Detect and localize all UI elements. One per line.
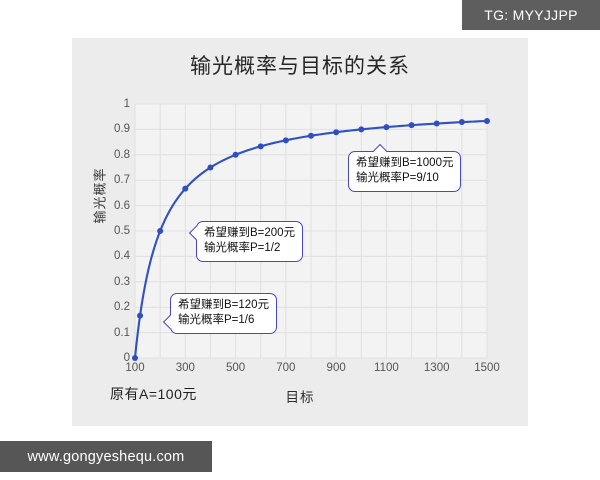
annotation-callout-b1000: 希望赚到B=1000元 输光概率P=9/10: [348, 151, 461, 192]
data-point-marker: [182, 186, 188, 192]
data-point-marker: [258, 143, 264, 149]
x-axis-tick-label: 700: [261, 362, 311, 374]
chart-card: 输光概率与目标的关系 输光概率 00.10.20.30.40.50.60.70.…: [72, 38, 528, 426]
x-axis-tick-label: 900: [311, 362, 361, 374]
data-point-marker: [132, 355, 138, 361]
y-axis-tick-label: 0.8: [96, 149, 130, 161]
starting-amount-note: 原有A=100元: [110, 384, 197, 404]
callout-b200-line1: 希望赚到B=200元: [204, 226, 295, 241]
x-axis-tick-label: 500: [211, 362, 261, 374]
y-axis-tick-label: 1: [96, 98, 130, 110]
y-axis-tick-label: 0.5: [96, 225, 130, 237]
x-axis-tick-label: 300: [160, 362, 210, 374]
data-point-marker: [233, 152, 239, 158]
tg-watermark-banner: TG: MYYJJPP: [462, 0, 600, 30]
data-point-marker: [383, 124, 389, 130]
y-axis-tick-labels: 00.10.20.30.40.50.60.70.80.91: [92, 104, 130, 358]
y-axis-tick-label: 0.3: [96, 276, 130, 288]
data-point-marker: [137, 313, 143, 319]
callout-b120-line2: 输光概率P=1/6: [178, 313, 269, 328]
chart-title: 输光概率与目标的关系: [72, 50, 528, 80]
callout-b1000-line2: 输光概率P=9/10: [356, 171, 453, 186]
x-axis-tick-label: 1100: [361, 362, 411, 374]
annotation-callout-b200: 希望赚到B=200元 输光概率P=1/2: [196, 221, 303, 262]
data-point-marker: [459, 119, 465, 125]
callout-b1000-line1: 希望赚到B=1000元: [356, 156, 453, 171]
x-axis-tick-label: 1300: [412, 362, 462, 374]
y-axis-tick-label: 0.6: [96, 200, 130, 212]
y-axis-tick-label: 0.2: [96, 301, 130, 313]
x-axis-tick-label: 100: [110, 362, 160, 374]
data-point-marker: [308, 133, 314, 139]
data-point-marker: [358, 126, 364, 132]
callout-b200-line2: 输光概率P=1/2: [204, 241, 295, 256]
site-watermark-banner: www.gongyeshequ.com: [0, 441, 212, 472]
x-axis-tick-label: 1500: [462, 362, 512, 374]
data-point-marker: [409, 122, 415, 128]
y-axis-tick-label: 0.7: [96, 174, 130, 186]
data-point-marker: [207, 165, 213, 171]
data-point-marker: [157, 228, 163, 234]
data-point-marker: [283, 137, 289, 143]
y-axis-tick-label: 0.4: [96, 250, 130, 262]
site-watermark-text: www.gongyeshequ.com: [28, 449, 185, 465]
data-point-marker: [484, 118, 490, 124]
tg-watermark-text: TG: MYYJJPP: [484, 7, 578, 23]
data-point-marker: [434, 121, 440, 127]
x-axis-tick-labels: 100300500700900110013001500: [135, 362, 487, 380]
callout-b120-line1: 希望赚到B=120元: [178, 298, 269, 313]
y-axis-tick-label: 0.9: [96, 123, 130, 135]
data-point-marker: [333, 129, 339, 135]
annotation-callout-b120: 希望赚到B=120元 输光概率P=1/6: [170, 293, 277, 334]
y-axis-tick-label: 0.1: [96, 327, 130, 339]
